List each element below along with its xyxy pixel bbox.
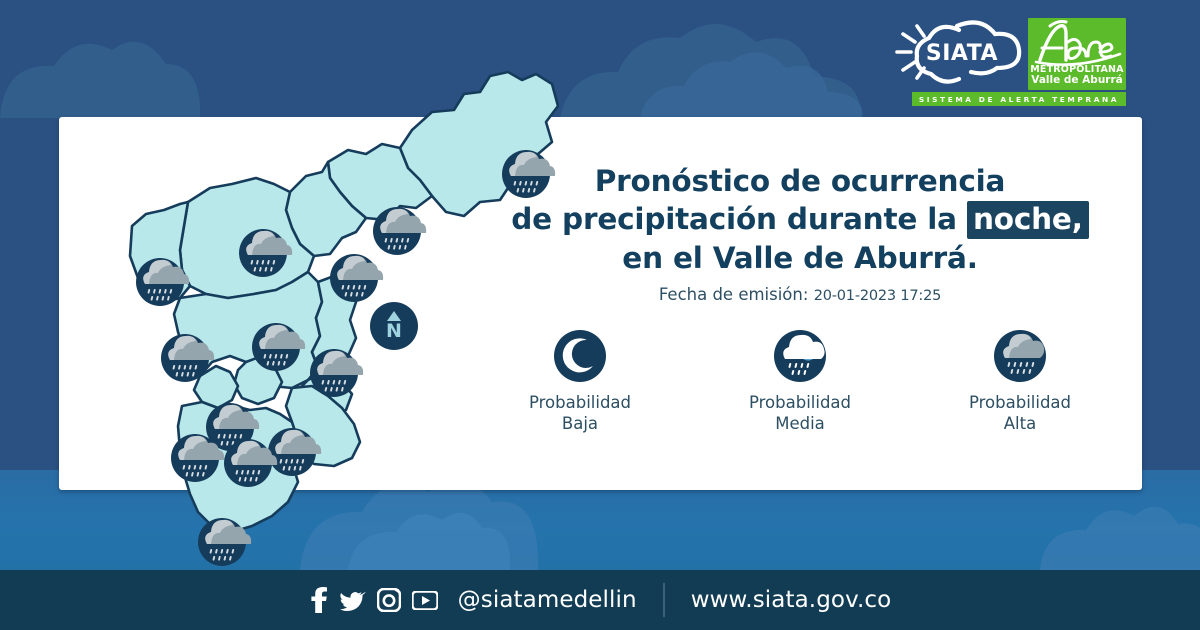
- issue-date-value: 20-01-2023 17:25: [814, 288, 941, 304]
- map-marker-alta: [330, 254, 383, 302]
- social-icons: [309, 587, 438, 613]
- legend-media-line1: Probabilidad: [749, 392, 851, 413]
- title-line-1: Pronóstico de ocurrencia: [470, 162, 1130, 200]
- map-marker-alta: [373, 207, 426, 255]
- area-line2: Valle de Aburrá: [1028, 75, 1126, 86]
- youtube-icon[interactable]: [412, 591, 438, 610]
- siata-logo: SIATA: [895, 18, 1030, 86]
- legend-item-baja: Probabilidad Baja: [490, 330, 670, 434]
- title-line-3: en el Valle de Aburrá.: [470, 239, 1130, 277]
- siata-tagline: SISTEMA DE ALERTA TEMPRANA: [919, 95, 1119, 104]
- title-line-2-text: de precipitación durante la: [511, 202, 967, 236]
- legend-baja-line2: Baja: [529, 413, 631, 434]
- svg-text:SIATA: SIATA: [926, 41, 998, 66]
- issue-date: Fecha de emisión: 20-01-2023 17:25: [470, 285, 1130, 304]
- area-script-icon: [1028, 18, 1126, 66]
- area-logo-text: METROPOLITANA Valle de Aburrá: [1028, 65, 1126, 86]
- instagram-icon[interactable]: [377, 588, 401, 612]
- issue-date-label: Fecha de emisión:: [659, 285, 809, 304]
- facebook-icon[interactable]: [309, 587, 329, 613]
- legend: Probabilidad Baja Proba: [470, 330, 1130, 450]
- page-title: Pronóstico de ocurrencia de precipitació…: [470, 162, 1130, 277]
- compass-north-icon: N: [370, 302, 418, 350]
- website-url[interactable]: www.siata.gov.co: [691, 587, 892, 613]
- siata-tagline-bar: SISTEMA DE ALERTA TEMPRANA: [912, 92, 1126, 106]
- map-marker-alta: [310, 349, 363, 397]
- footer-divider: [663, 583, 665, 617]
- title-highlight-noche: noche,: [967, 201, 1089, 239]
- legend-label-media: Probabilidad Media: [749, 392, 851, 434]
- moon-icon: [554, 330, 606, 382]
- legend-alta-line2: Alta: [969, 413, 1071, 434]
- twitter-icon[interactable]: [340, 589, 366, 611]
- map-valle-de-aburra: N: [60, 50, 560, 570]
- legend-media-line2: Media: [749, 413, 851, 434]
- cloud-rain-moon-icon: [774, 330, 826, 382]
- svg-text:N: N: [386, 320, 402, 342]
- logo-block: SIATA METROPOLITANA Valle de Aburrá SIST…: [895, 18, 1130, 110]
- social-handle[interactable]: @siatamedellin: [458, 587, 637, 613]
- legend-item-media: Probabilidad Media: [710, 330, 890, 434]
- cloud-rain-heavy-icon: [994, 330, 1046, 382]
- legend-label-alta: Probabilidad Alta: [969, 392, 1071, 434]
- area-metropolitana-logo: METROPOLITANA Valle de Aburrá: [1028, 18, 1126, 90]
- legend-baja-line1: Probabilidad: [529, 392, 631, 413]
- infographic-root: N SIATA: [0, 0, 1200, 630]
- title-line-2: de precipitación durante la noche,: [470, 200, 1130, 238]
- legend-item-alta: Probabilidad Alta: [930, 330, 1110, 434]
- footer-bar: @siatamedellin www.siata.gov.co: [0, 570, 1200, 630]
- legend-label-baja: Probabilidad Baja: [529, 392, 631, 434]
- legend-alta-line1: Probabilidad: [969, 392, 1071, 413]
